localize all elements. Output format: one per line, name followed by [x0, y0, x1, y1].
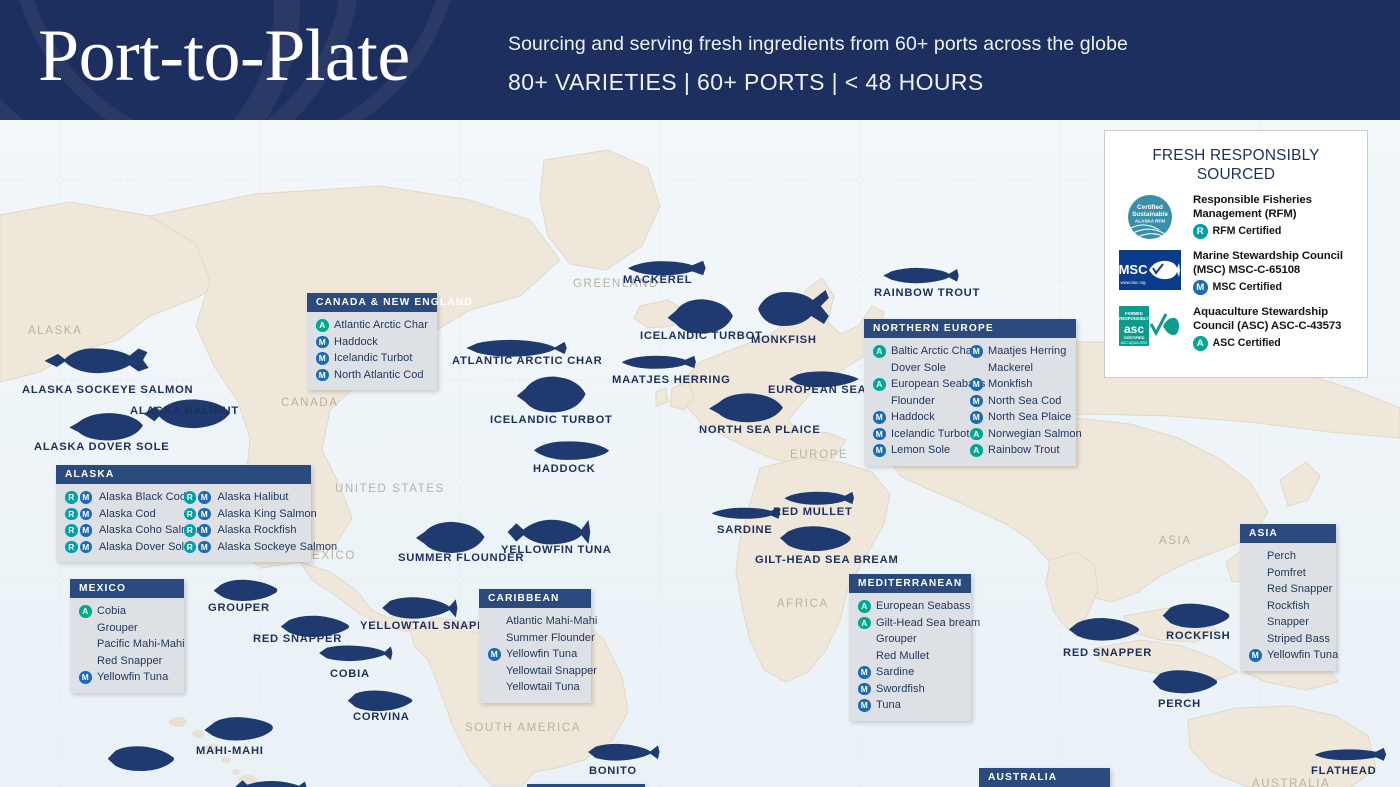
fish-label-grouper: GROUPER — [208, 602, 270, 614]
certification-badge-group: M — [316, 352, 330, 365]
species-list-item[interactable]: ABaltic Arctic Char — [873, 343, 970, 360]
certification-badge-group: RM — [184, 524, 214, 537]
certification-key: MMSC Certified — [1193, 280, 1353, 295]
port-to-plate-infographic: Port-to-Plate Sourcing and serving fresh… — [0, 0, 1400, 787]
fish-silhouette-perch — [1148, 664, 1224, 698]
species-name: Rockfish — [1267, 600, 1310, 612]
fish-label-monkfish: MONKFISH — [751, 334, 817, 346]
badge-m-icon: M — [198, 508, 211, 521]
badge-m-icon: M — [316, 336, 329, 349]
species-name: Alaska Rockfish — [218, 524, 297, 536]
fish-silhouette-hawaiian-pink-snapper — [103, 740, 181, 776]
fish-label-maatjes-herring: MAATJES HERRING — [612, 374, 731, 386]
certification-badge-group: A — [970, 428, 984, 441]
species-list-item[interactable]: RMAlaska Dover Sole — [65, 539, 184, 556]
species-name: Atlantic Arctic Char — [334, 319, 428, 331]
species-list-item[interactable]: MNorth Atlantic Cod — [316, 367, 428, 384]
species-name: Mackerel — [988, 362, 1033, 374]
species-list-item[interactable]: MYellowfin Tuna — [1249, 647, 1338, 664]
region-panel-title-mexico: MEXICO — [70, 579, 184, 598]
continent-label-africa: AFRICA — [777, 598, 829, 610]
region-panel-title-asia: ASIA — [1240, 524, 1336, 543]
species-name: Monkfish — [988, 378, 1032, 390]
certification-badge-group: RM — [65, 524, 95, 537]
certification-badge-group: M — [858, 666, 872, 679]
badge-a-icon: A — [970, 444, 983, 457]
svg-text:Certified: Certified — [1137, 204, 1163, 211]
region-panel-title-alaska: ALASKA — [56, 465, 311, 484]
species-list-item[interactable]: Pomfret — [1249, 565, 1338, 582]
species-list-item[interactable]: MLemon Sole — [873, 442, 970, 459]
badge-m-icon: M — [488, 648, 501, 661]
species-name: Flounder — [891, 395, 935, 407]
fish-label-sardine: SARDINE — [717, 524, 773, 536]
certification-badge-group: M — [970, 395, 984, 408]
badge-m-icon: M — [858, 699, 871, 712]
certification-badge-group: A — [316, 319, 330, 332]
svg-text:ASC-AQUA.ORG: ASC-AQUA.ORG — [1121, 341, 1148, 345]
species-name: Baltic Arctic Char — [891, 345, 976, 357]
species-name: North Atlantic Cod — [334, 369, 424, 381]
continent-label-south-america: SOUTH AMERICA — [465, 722, 581, 734]
species-name: Icelandic Turbot — [334, 352, 412, 364]
certification-badge-group: M — [858, 683, 872, 696]
species-list-item[interactable]: Snapper — [1249, 614, 1338, 631]
species-list-item[interactable]: MTuna — [858, 697, 980, 714]
svg-text:RESPONSIBLY: RESPONSIBLY — [1119, 316, 1149, 321]
badge-m-icon: M — [970, 378, 983, 391]
certification-badge-group: A — [858, 600, 872, 613]
species-name: Swordfish — [876, 683, 925, 695]
region-panel-column: MMaatjes HerringMackerelMMonkfishMNorth … — [970, 343, 1067, 459]
species-name: Red Mullet — [876, 650, 929, 662]
certification-key-label: RFM Certified — [1213, 225, 1282, 237]
species-list-item[interactable]: AGilt-Head Sea bream — [858, 615, 980, 632]
species-list-item[interactable]: MYellowfin Tuna — [79, 669, 185, 686]
species-list-item[interactable]: MMaatjes Herring — [970, 343, 1067, 360]
badge-r-icon: R — [65, 541, 78, 554]
certification-badge-group: M — [970, 411, 984, 424]
fish-silhouette-wahoo — [232, 773, 308, 787]
fish-label-flathead: FLATHEAD — [1311, 765, 1376, 777]
species-list-item[interactable]: Rockfish — [1249, 598, 1338, 615]
continent-label-australia: AUSTRALIA — [1252, 778, 1330, 787]
badge-m-icon: M — [198, 491, 211, 504]
species-list-item[interactable]: Dover Sole — [873, 360, 970, 377]
species-list-item[interactable]: AEuropean Seabass — [858, 598, 980, 615]
certification-row-a: FARMED RESPONSIBLY asc CERTIFIED ASC-AQU… — [1119, 306, 1353, 354]
species-list-item[interactable]: RMAlaska Sockeye Salmon — [184, 539, 303, 556]
region-panel-column: ABaltic Arctic CharDover SoleAEuropean S… — [873, 343, 970, 459]
region-panel-column: PerchPomfretRed SnapperRockfishSnapperSt… — [1249, 548, 1338, 664]
badge-m-icon: M — [858, 683, 871, 696]
certification-badge-group: M — [873, 411, 887, 424]
fish-label-perch: PERCH — [1158, 698, 1201, 710]
species-list-item[interactable]: MHaddock — [873, 409, 970, 426]
svg-text:ALASKA RFM: ALASKA RFM — [1135, 219, 1165, 224]
region-panel-body-canada-new-england: AAtlantic Arctic CharMHaddockMIcelandic … — [307, 312, 437, 390]
badge-a-icon: A — [873, 378, 886, 391]
species-list-item[interactable]: Atlantic Mahi-Mahi — [488, 613, 597, 630]
continent-label-canada: CANADA — [281, 397, 339, 409]
fish-silhouette-bonito — [585, 737, 661, 767]
certification-key-label: MSC Certified — [1213, 281, 1282, 293]
badge-m-icon: M — [970, 411, 983, 424]
badge-a-icon: A — [1193, 336, 1208, 351]
rfm-certified-sustainable-alaska-logo: Certified Sustainable ALASKA RFM — [1119, 194, 1181, 240]
certification-row-r: Certified Sustainable ALASKA RFM Respons… — [1119, 194, 1353, 242]
certification-badge-group: A — [970, 444, 984, 457]
fish-label-haddock: HADDOCK — [533, 463, 595, 475]
certification-name: Aquaculture Stewardship Council (ASC) AS… — [1193, 306, 1353, 333]
species-name: North Sea Plaice — [988, 411, 1071, 423]
species-name: Red Snapper — [1267, 583, 1332, 595]
certification-badge-group: M — [316, 369, 330, 382]
fish-silhouette-icelandic-turbot — [512, 371, 592, 417]
species-list-item[interactable]: MNorth Sea Plaice — [970, 409, 1067, 426]
fish-silhouette-haddock — [530, 434, 616, 466]
species-list-item[interactable]: MYellowfin Tuna — [488, 646, 597, 663]
species-name: Alaska Dover Sole — [99, 541, 190, 553]
badge-a-icon: A — [316, 319, 329, 332]
species-name: Snapper — [1267, 616, 1309, 628]
region-panel-caribbean: CARIBBEANAtlantic Mahi-MahiSummer Flound… — [479, 589, 591, 703]
fish-silhouette-mahi-mahi — [198, 713, 278, 747]
species-name: Haddock — [334, 336, 378, 348]
species-list-item[interactable]: RMAlaska Rockfish — [184, 522, 303, 539]
continent-label-asia: ASIA — [1159, 535, 1192, 547]
badge-r-icon: R — [184, 524, 197, 537]
species-list-item[interactable]: RMAlaska King Salmon — [184, 506, 303, 523]
header-tagline: Sourcing and serving fresh ingredients f… — [508, 33, 1128, 56]
fish-label-corvina: CORVINA — [353, 711, 410, 723]
certification-badge-group: RM — [65, 541, 95, 554]
species-name: Red Snapper — [97, 655, 162, 667]
species-name: Dover Sole — [891, 362, 946, 374]
badge-a-icon: A — [79, 605, 92, 618]
species-list-item[interactable]: MSwordfish — [858, 681, 980, 698]
certification-badge-group: M — [316, 336, 330, 349]
fish-label-bonito: BONITO — [589, 765, 637, 777]
badge-m-icon: M — [970, 345, 983, 358]
badge-m-icon: M — [970, 395, 983, 408]
badge-m-icon: M — [316, 352, 329, 365]
region-panel-title-australia: AUSTRALIA — [979, 768, 1110, 787]
species-list-item[interactable]: MIcelandic Turbot — [873, 426, 970, 443]
badge-m-icon: M — [873, 428, 886, 441]
svg-text:asc: asc — [1124, 322, 1144, 336]
species-name: Maatjes Herring — [988, 345, 1066, 357]
species-list-item[interactable]: Summer Flounder — [488, 630, 597, 647]
certification-text: Responsible Fisheries Management (RFM)RR… — [1193, 194, 1353, 239]
badge-r-icon: R — [184, 508, 197, 521]
badge-m-icon: M — [873, 411, 886, 424]
species-name: Sardine — [876, 666, 914, 678]
fish-label-alaska-dover-sole: ALASKA DOVER SOLE — [34, 441, 169, 453]
species-name: Yellowfin Tuna — [97, 671, 168, 683]
species-name: European Seabass — [876, 600, 970, 612]
certification-badge-group: A — [873, 378, 887, 391]
certification-badge-group: RM — [184, 541, 214, 554]
species-list-item[interactable]: Yellowtail Snapper — [488, 663, 597, 680]
region-panel-column: ACobiaGrouperPacific Mahi-MahiRed Snappe… — [79, 603, 185, 686]
species-list-item[interactable]: Flounder — [873, 393, 970, 410]
badge-m-icon: M — [198, 541, 211, 554]
species-list-item[interactable]: Red Snapper — [1249, 581, 1338, 598]
badge-m-icon: M — [80, 524, 93, 537]
species-name: Lemon Sole — [891, 444, 950, 456]
fish-label-red-snapper: RED SNAPPER — [1063, 647, 1152, 659]
species-name: Rainbow Trout — [988, 444, 1060, 456]
species-name: Yellowfin Tuna — [1267, 649, 1338, 661]
region-panel-title-mediterranean: MEDITERRANEAN — [849, 574, 971, 593]
certification-badge-group: M — [873, 428, 887, 441]
badge-r-icon: R — [65, 508, 78, 521]
continent-label-europe: EUROPE — [790, 449, 848, 461]
species-list-item[interactable]: MSardine — [858, 664, 980, 681]
species-list-item[interactable]: Red Snapper — [79, 653, 185, 670]
species-list-item[interactable]: MNorth Sea Cod — [970, 393, 1067, 410]
region-panel-title-northern-europe: NORTHERN EUROPE — [864, 319, 1076, 338]
fish-silhouette-rockfish — [1158, 598, 1236, 632]
species-list-item[interactable]: Pacific Mahi-Mahi — [79, 636, 185, 653]
badge-m-icon: M — [198, 524, 211, 537]
fish-label-yellowfin-tuna: YELLOWFIN TUNA — [501, 544, 612, 556]
region-panel-asia: ASIAPerchPomfretRed SnapperRockfishSnapp… — [1240, 524, 1336, 671]
species-name: Striped Bass — [1267, 633, 1330, 645]
certification-text: Marine Stewardship Council (MSC) MSC-C-6… — [1193, 250, 1353, 295]
certification-badge-group: A — [873, 345, 887, 358]
species-name: Alaska Halibut — [218, 491, 289, 503]
region-panel-canada-new-england: CANADA & NEW ENGLANDAAtlantic Arctic Cha… — [307, 293, 437, 390]
species-name: Grouper — [97, 622, 138, 634]
badge-m-icon: M — [79, 671, 92, 684]
page-title: Port-to-Plate — [38, 8, 410, 104]
badge-m-icon: M — [1193, 280, 1208, 295]
species-name: Perch — [1267, 550, 1296, 562]
species-name: Yellowtail Tuna — [506, 681, 580, 693]
species-list-item[interactable]: Grouper — [79, 620, 185, 637]
badge-m-icon: M — [858, 666, 871, 679]
fish-silhouette-alaska-sockeye-salmon — [40, 338, 152, 382]
svg-text:Sustainable: Sustainable — [1132, 211, 1168, 218]
msc-blue-fish-logo: MSC www.msc.org — [1119, 250, 1181, 290]
region-panel-column: Atlantic Mahi-MahiSummer FlounderMYellow… — [488, 613, 597, 696]
fish-label-mahi-mahi: MAHI-MAHI — [196, 745, 264, 757]
badge-m-icon: M — [80, 491, 93, 504]
region-panel-northern-europe: NORTHERN EUROPEABaltic Arctic CharDover … — [864, 319, 1076, 466]
species-list-item[interactable]: Striped Bass — [1249, 631, 1338, 648]
certification-key: RRFM Certified — [1193, 224, 1353, 239]
fish-silhouette-red-snapper — [1064, 612, 1146, 646]
species-name: Pomfret — [1267, 567, 1306, 579]
region-panel-mediterranean: MEDITERRANEANAEuropean SeabassAGilt-Head… — [849, 574, 971, 721]
certification-key-label: ASC Certified — [1213, 337, 1281, 349]
certification-text: Aquaculture Stewardship Council (ASC) AS… — [1193, 306, 1353, 351]
fish-label-icelandic-turbot: ICELANDIC TURBOT — [490, 414, 613, 426]
certification-badge-group: M — [488, 648, 502, 661]
svg-text:www.msc.org: www.msc.org — [1121, 280, 1147, 285]
species-name: Alaska Sockeye Salmon — [218, 541, 338, 553]
badge-m-icon: M — [80, 508, 93, 521]
certification-badge-group: RM — [184, 491, 214, 504]
badge-r-icon: R — [65, 524, 78, 537]
species-name: Alaska Cod — [99, 508, 156, 520]
species-name: Gilt-Head Sea bream — [876, 617, 980, 629]
region-panel-alaska: ALASKARMAlaska Black CodRMAlaska CodRMAl… — [56, 465, 311, 562]
fish-silhouette-rainbow-trout — [880, 260, 962, 290]
badge-m-icon: M — [1249, 649, 1262, 662]
fish-silhouette-gilt-head-sea-bream — [776, 520, 856, 556]
species-list-item[interactable]: Yellowtail Tuna — [488, 679, 597, 696]
region-panel-australia: AUSTRALIABarramundiMFlatheadMurray CodAT… — [979, 768, 1110, 787]
species-name: Pacific Mahi-Mahi — [97, 638, 185, 650]
legend-title: FRESH RESPONSIBLY SOURCED — [1119, 147, 1353, 184]
fish-label-atlantic-arctic-char: ATLANTIC ARCTIC CHAR — [452, 355, 602, 367]
fish-label-rainbow-trout: RAINBOW TROUT — [874, 287, 980, 299]
species-name: Icelandic Turbot — [891, 428, 969, 440]
species-list-item[interactable]: ANorwegian Salmon — [970, 426, 1067, 443]
species-list-item[interactable]: MHaddock — [316, 334, 428, 351]
badge-r-icon: R — [184, 491, 197, 504]
species-name: Norwegian Salmon — [988, 428, 1082, 440]
fish-label-icelandic-turbot: ICELANDIC TURBOT — [640, 330, 763, 342]
certification-badge-group: RM — [65, 491, 95, 504]
fish-label-north-sea-plaice: NORTH SEA PLAICE — [699, 424, 821, 436]
species-name: Summer Flounder — [506, 632, 595, 644]
certification-badge-group: M — [1249, 649, 1263, 662]
certification-legend-panel: FRESH RESPONSIBLY SOURCED Certified Sust… — [1104, 130, 1368, 378]
certification-name: Marine Stewardship Council (MSC) MSC-C-6… — [1193, 250, 1353, 277]
region-panel-title-caribbean: CARIBBEAN — [479, 589, 591, 608]
species-name: Alaska Black Cod — [99, 491, 186, 503]
species-list-item[interactable]: Grouper — [858, 631, 980, 648]
species-name: Yellowtail Snapper — [506, 665, 597, 677]
region-panel-title-canada-new-england: CANADA & NEW ENGLAND — [307, 293, 437, 312]
fish-silhouette-monkfish — [752, 284, 832, 334]
species-list-item[interactable]: ACobia — [79, 603, 185, 620]
badge-r-icon: R — [184, 541, 197, 554]
badge-a-icon: A — [858, 617, 871, 630]
fish-label-alaska-halibut: ALASKA HALIBUT — [130, 405, 239, 417]
region-panel-column: AEuropean SeabassAGilt-Head Sea breamGro… — [858, 598, 980, 714]
certification-badge-group: M — [970, 378, 984, 391]
svg-text:CERTIFIED: CERTIFIED — [1123, 335, 1144, 340]
fish-label-red-mullet: RED MULLET — [773, 506, 853, 518]
certification-badge-group: M — [873, 444, 887, 457]
certification-badge-group: RM — [65, 508, 95, 521]
species-name: Cobia — [97, 605, 126, 617]
header-stats: 80+ VARIETIES | 60+ PORTS | < 48 HOURS — [508, 69, 984, 96]
certification-badge-group: A — [858, 617, 872, 630]
certification-list: Certified Sustainable ALASKA RFM Respons… — [1119, 194, 1353, 354]
species-name: North Sea Cod — [988, 395, 1061, 407]
header-banner: Port-to-Plate Sourcing and serving fresh… — [0, 0, 1400, 120]
badge-a-icon: A — [858, 600, 871, 613]
badge-a-icon: A — [873, 345, 886, 358]
species-name: Tuna — [876, 699, 901, 711]
species-list-item[interactable]: AEuropean Seabass — [873, 376, 970, 393]
species-list-item[interactable]: Red Mullet — [858, 648, 980, 665]
species-list-item[interactable]: AAtlantic Arctic Char — [316, 317, 428, 334]
certification-name: Responsible Fisheries Management (RFM) — [1193, 194, 1353, 221]
species-list-item[interactable]: Perch — [1249, 548, 1338, 565]
species-name: Haddock — [891, 411, 935, 423]
certification-badge-group: A — [79, 605, 93, 618]
species-list-item[interactable]: RMAlaska Coho Salmon — [65, 522, 184, 539]
certification-key: AASC Certified — [1193, 336, 1353, 351]
region-panel-column: RMAlaska HalibutRMAlaska King SalmonRMAl… — [184, 489, 303, 555]
species-name: Grouper — [876, 633, 917, 645]
fish-silhouette-sardine — [709, 500, 783, 526]
region-panel-body-mediterranean: AEuropean SeabassAGilt-Head Sea breamGro… — [849, 593, 971, 721]
species-list-item[interactable]: RMAlaska Black Cod — [65, 489, 184, 506]
asc-farmed-responsibly-logo: FARMED RESPONSIBLY asc CERTIFIED ASC-AQU… — [1119, 306, 1181, 346]
certification-badge-group: RM — [184, 508, 214, 521]
fish-label-cobia: COBIA — [330, 668, 370, 680]
region-panel-body-caribbean: Atlantic Mahi-MahiSummer FlounderMYellow… — [479, 608, 591, 703]
region-panel-mexico: MEXICOACobiaGrouperPacific Mahi-MahiRed … — [70, 579, 184, 693]
species-list-item[interactable]: MIcelandic Turbot — [316, 350, 428, 367]
fish-silhouette-maatjes-herring — [618, 348, 700, 376]
species-list-item[interactable]: ARainbow Trout — [970, 442, 1067, 459]
fish-silhouette-cobia — [316, 638, 394, 668]
fish-label-rockfish: ROCKFISH — [1166, 630, 1230, 642]
species-name: Alaska King Salmon — [218, 508, 317, 520]
fish-silhouette-north-sea-plaice — [705, 388, 787, 426]
svg-text:MSC: MSC — [1119, 262, 1148, 277]
species-name: Atlantic Mahi-Mahi — [506, 615, 597, 627]
species-list-item[interactable]: MMonkfish — [970, 376, 1067, 393]
fish-label-mackerel: MACKEREL — [623, 274, 692, 286]
continent-label-united-states: UNITED STATES — [335, 483, 445, 495]
certification-row-m: MSC www.msc.org Marine Stewardship Counc… — [1119, 250, 1353, 298]
fish-label-gilt-head-sea-bream: GILT-HEAD SEA BREAM — [755, 554, 899, 566]
region-panel-body-northern-europe: ABaltic Arctic CharDover SoleAEuropean S… — [864, 338, 1076, 466]
msc-blue-fish-logo: MSC www.msc.org — [1119, 250, 1183, 298]
badge-r-icon: R — [1193, 224, 1208, 239]
certification-badge-group: M — [79, 671, 93, 684]
region-panel-body-asia: PerchPomfretRed SnapperRockfishSnapperSt… — [1240, 543, 1336, 671]
region-panel-column: RMAlaska Black CodRMAlaska CodRMAlaska C… — [65, 489, 184, 555]
rfm-certified-sustainable-alaska-logo: Certified Sustainable ALASKA RFM — [1119, 194, 1183, 242]
certification-badge-group: M — [970, 345, 984, 358]
badge-m-icon: M — [80, 541, 93, 554]
badge-a-icon: A — [970, 428, 983, 441]
region-panel-body-alaska: RMAlaska Black CodRMAlaska CodRMAlaska C… — [56, 484, 311, 562]
region-panel-column: AAtlantic Arctic CharMHaddockMIcelandic … — [316, 317, 428, 383]
badge-r-icon: R — [65, 491, 78, 504]
asc-farmed-responsibly-logo: FARMED RESPONSIBLY asc CERTIFIED ASC-AQU… — [1119, 306, 1183, 354]
region-panel-body-mexico: ACobiaGrouperPacific Mahi-MahiRed Snappe… — [70, 598, 184, 693]
fish-silhouette-flathead — [1312, 740, 1390, 768]
badge-m-icon: M — [316, 369, 329, 382]
continent-label-alaska: ALASKA — [28, 325, 82, 337]
species-list-item[interactable]: RMAlaska Cod — [65, 506, 184, 523]
species-name: Yellowfin Tuna — [506, 648, 577, 660]
badge-m-icon: M — [873, 444, 886, 457]
species-list-item[interactable]: RMAlaska Halibut — [184, 489, 303, 506]
species-list-item[interactable]: Mackerel — [970, 360, 1067, 377]
certification-badge-group: M — [858, 699, 872, 712]
